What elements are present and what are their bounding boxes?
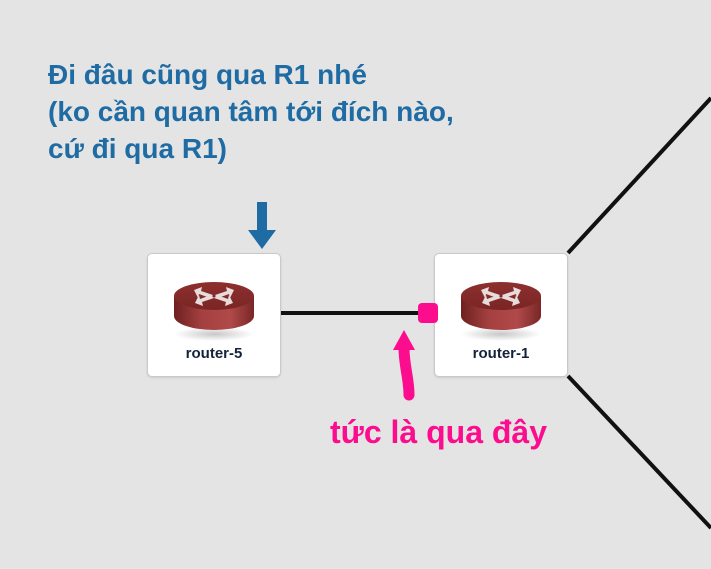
- blue-annotation-line-1: Đi đâu cũng qua R1 nhé: [48, 56, 454, 93]
- link-router1-lower-right[interactable]: [568, 376, 711, 528]
- node-label-router-5: router-5: [148, 345, 280, 362]
- link-port-marker[interactable]: [418, 303, 438, 323]
- blue-annotation-text: Đi đâu cũng qua R1 nhé (ko cần quan tâm …: [48, 56, 454, 167]
- node-router-1[interactable]: router-1: [434, 253, 568, 377]
- router-icon: [455, 270, 547, 342]
- blue-annotation-line-2: (ko cần quan tâm tới đích nào,: [48, 93, 454, 130]
- link-router1-upper-right[interactable]: [568, 98, 711, 253]
- node-router-5[interactable]: router-5: [147, 253, 281, 377]
- magenta-annotation-text: tức là qua đây: [330, 412, 547, 452]
- router-icon: [168, 270, 260, 342]
- blue-annotation-line-3: cứ đi qua R1): [48, 130, 454, 167]
- node-label-router-1: router-1: [435, 345, 567, 362]
- topology-canvas: Đi đâu cũng qua R1 nhé (ko cần quan tâm …: [0, 0, 711, 569]
